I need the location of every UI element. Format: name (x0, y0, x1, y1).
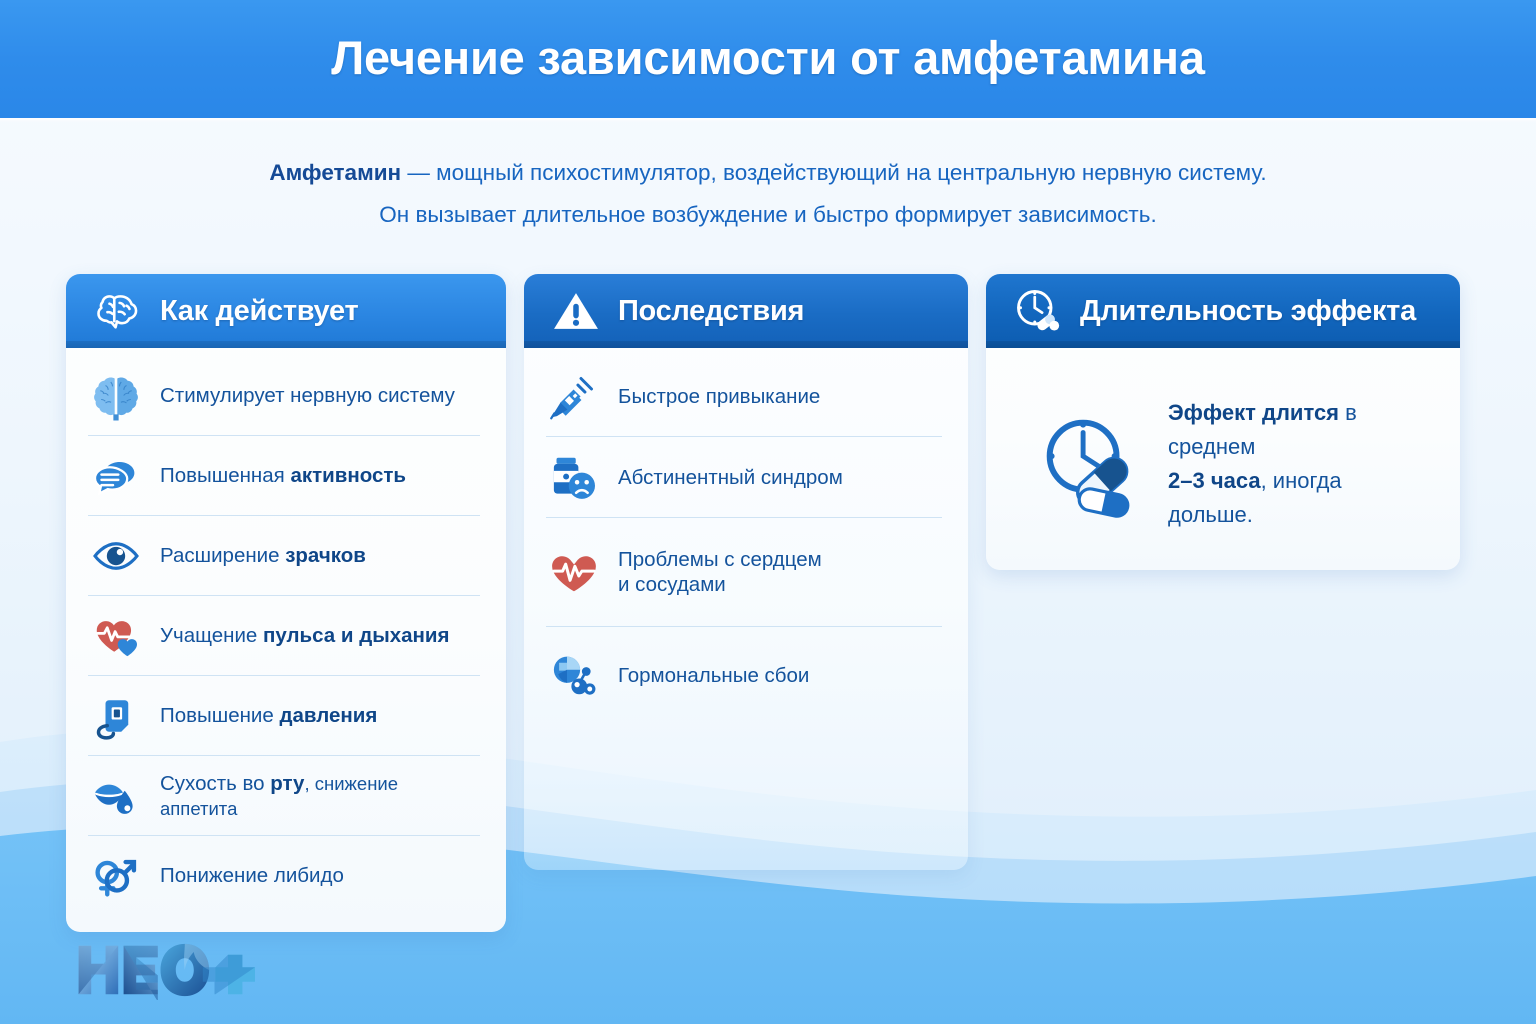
card-effect-duration-body: Эффект длится в среднем 2–3 часа, иногда… (986, 348, 1460, 570)
card-how-it-works-body: Стимулирует нервную систему Повышенная а… (66, 348, 506, 932)
card-how-it-works-header: Как действует (66, 274, 506, 348)
heart-ecg-icon (546, 544, 602, 600)
intro-text: Амфетамин — мощный психостимулятор, возд… (0, 152, 1536, 235)
list-item-label: Проблемы с сердцем и сосудами (618, 547, 822, 597)
row-text-pre: Повышенная (160, 464, 290, 487)
row-text-bold: рту (270, 772, 304, 795)
infographic-stage: Лечение зависимости от амфетамина Амфета… (0, 0, 1536, 1024)
list-item: Стимулирует нервную систему (88, 356, 480, 435)
list-item: Расширение зрачков (88, 515, 480, 595)
row-text-bold: пульса и дыхания (263, 624, 449, 647)
list-item: Повышение давления (88, 675, 480, 755)
card-consequences-title: Последствия (618, 295, 804, 328)
intro-line-1: Амфетамин — мощный психостимулятор, возд… (0, 152, 1536, 194)
row-text-pre: Повышение (160, 704, 279, 727)
list-item: Проблемы с сердцем и сосудами (546, 517, 942, 626)
page-title: Лечение зависимости от амфетамина (0, 30, 1536, 85)
brain-icon (92, 285, 144, 337)
intro-line-1-rest: — мощный психостимулятор, воздействующий… (401, 160, 1267, 185)
list-item-label: Повышение давления (160, 703, 377, 728)
heart-pulse-icon (88, 608, 144, 664)
brain-icon (88, 368, 144, 424)
row-text-pre: Стимулирует нервную систему (160, 384, 455, 407)
row-text-bold: давления (279, 704, 377, 727)
list-item-label: Понижение либидо (160, 863, 344, 888)
effect-bold-2: 2–3 часа (1168, 468, 1261, 493)
row-text-pre: Расширение (160, 544, 285, 567)
row-text-bold: активность (290, 464, 406, 487)
pill-bottle-sad-icon (546, 449, 602, 505)
list-item-label: Расширение зрачков (160, 543, 366, 568)
list-item-label: Повышенная активность (160, 463, 406, 488)
row-text-pre: Сухость во (160, 772, 270, 795)
warning-triangle-icon (550, 285, 602, 337)
card-how-it-works-title: Как действует (160, 295, 358, 328)
neo-plus-logo (75, 940, 255, 1000)
speech-bubble-icon (88, 448, 144, 504)
card-effect-duration-title: Длительность эффекта (1080, 295, 1416, 328)
card-consequences: Последствия Быстрое привыкание (524, 274, 968, 870)
row-text-pre: Быстрое привыкание (618, 385, 820, 408)
list-item-label: Стимулирует нервную систему (160, 383, 455, 408)
intro-keyword: Амфетамин (269, 160, 401, 185)
eye-icon (88, 528, 144, 584)
card-effect-duration-header: Длительность эффекта (986, 274, 1460, 348)
list-item: Гормональные сбои (546, 626, 942, 723)
list-item-label: Гормональные сбои (618, 663, 809, 688)
row-text-pre: Понижение либидо (160, 864, 344, 887)
list-item-label: Учащение пульса и дыхания (160, 623, 449, 648)
dry-mouth-icon (88, 768, 144, 824)
row-text-pre: Проблемы с сердцем и сосудами (618, 548, 822, 596)
list-item: Понижение либидо (88, 835, 480, 915)
list-item-label: Быстрое привыкание (618, 384, 820, 409)
card-effect-duration: Длительность эффекта Эффект (986, 274, 1460, 570)
hormones-icon (546, 647, 602, 703)
gender-icon (88, 848, 144, 904)
blood-pressure-icon (88, 688, 144, 744)
effect-bold-1: Эффект длится (1168, 400, 1339, 425)
syringe-icon (546, 368, 602, 424)
list-item: Повышенная активность (88, 435, 480, 515)
row-text-pre: Абстинентный синдром (618, 466, 843, 489)
row-text-bold: зрачков (285, 544, 366, 567)
list-item-label: Абстинентный синдром (618, 465, 843, 490)
card-consequences-header: Последствия (524, 274, 968, 348)
page-header: Лечение зависимости от амфетамина (0, 0, 1536, 118)
intro-line-2: Он вызывает длительное возбуждение и быс… (0, 194, 1536, 236)
list-item: Сухость во рту, снижение аппетита (88, 755, 480, 835)
clock-capsules-icon (1030, 405, 1148, 523)
row-text-pre: Гормональные сбои (618, 664, 809, 687)
card-how-it-works: Как действует Стимулирует не (66, 274, 506, 932)
clock-pills-icon (1012, 285, 1064, 337)
row-text-pre: Учащение (160, 624, 263, 647)
list-item-label: Сухость во рту, снижение аппетита (160, 771, 480, 821)
effect-duration-text: Эффект длится в среднем 2–3 часа, иногда… (1168, 396, 1428, 532)
card-consequences-body: Быстрое привыкание Абстинентный синдром (524, 348, 968, 741)
list-item: Учащение пульса и дыхания (88, 595, 480, 675)
list-item: Быстрое привыкание (546, 356, 942, 436)
list-item: Абстинентный синдром (546, 436, 942, 517)
